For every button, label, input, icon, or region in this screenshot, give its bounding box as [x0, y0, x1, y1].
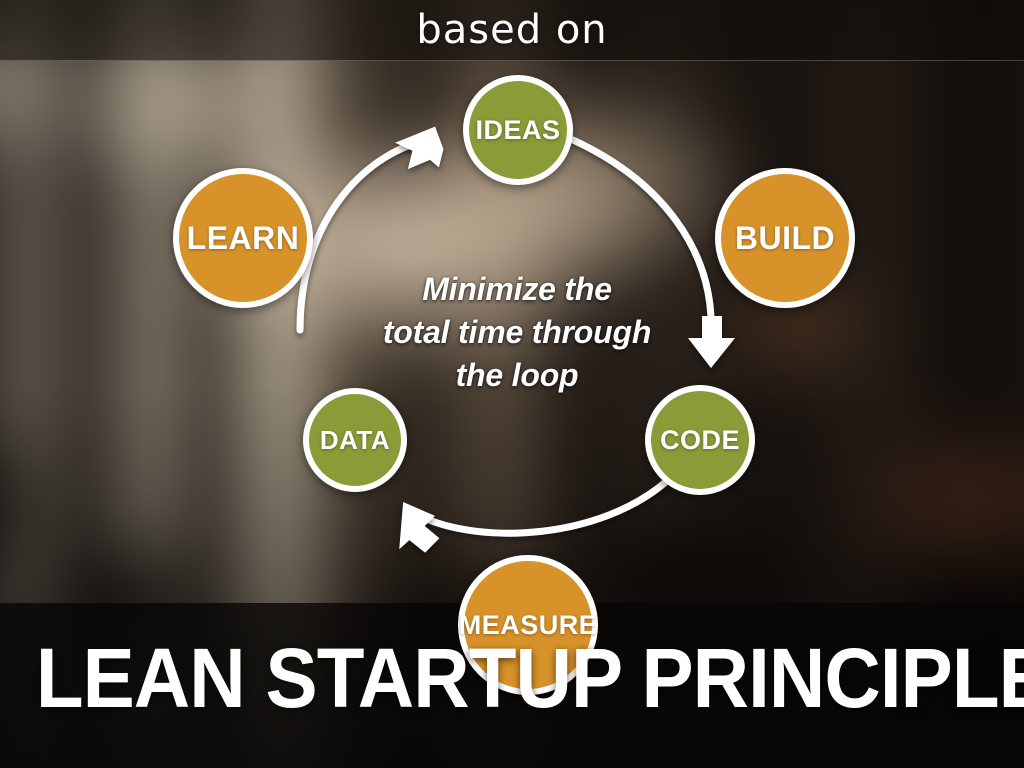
caption-line-3: the loop [372, 354, 662, 397]
loop-center-caption: Minimize the total time through the loop [372, 268, 662, 397]
node-ideas[interactable]: IDEAS [463, 75, 573, 185]
node-learn-label: LEARN [187, 220, 300, 257]
slide-canvas: IDEAS BUILD CODE MEASURE DATA LEARN Mini… [0, 0, 1024, 768]
node-data[interactable]: DATA [303, 388, 407, 492]
node-learn[interactable]: LEARN [173, 168, 313, 308]
node-code-label: CODE [660, 425, 740, 456]
arrowhead-to-code [688, 316, 735, 368]
node-ideas-label: IDEAS [475, 115, 560, 146]
slide-title: LEAN STARTUP PRINCIPLES [36, 636, 988, 720]
node-code[interactable]: CODE [645, 385, 755, 495]
caption-line-2: total time through [372, 311, 662, 354]
node-data-label: DATA [320, 425, 390, 456]
caption-line-1: Minimize the [372, 268, 662, 311]
node-build[interactable]: BUILD [715, 168, 855, 308]
arrowhead-to-ideas [394, 126, 448, 178]
arc-code-to-data [420, 480, 668, 533]
arrowhead-to-data [393, 502, 445, 557]
kicker-text: based on [0, 0, 1024, 60]
node-build-label: BUILD [735, 220, 835, 257]
